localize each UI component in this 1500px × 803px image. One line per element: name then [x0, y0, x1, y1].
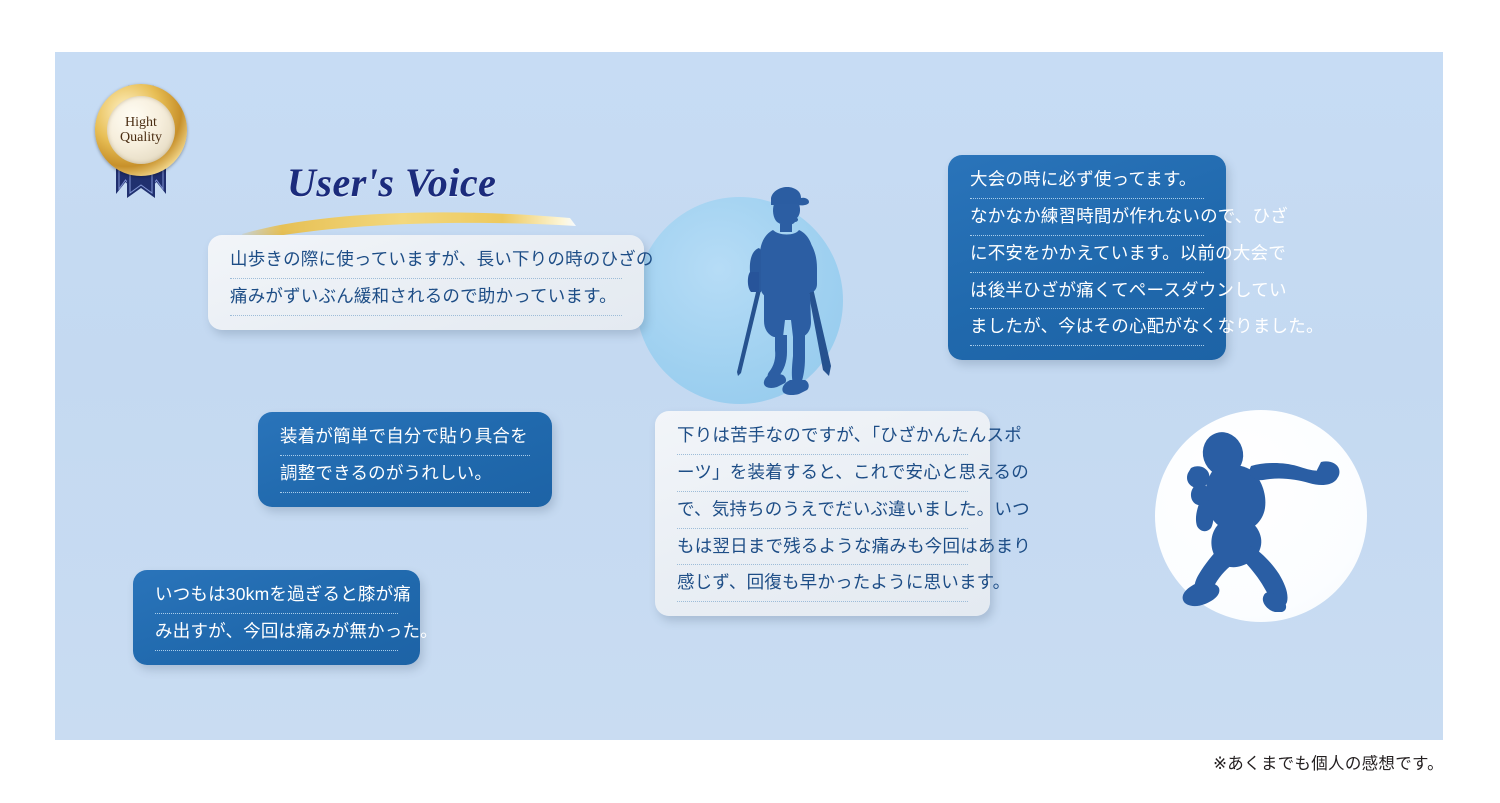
testimonial-bubble-race: 大会の時に必ず使ってます。 なかなか練習時間が作れないので、ひざ に不安をかかえ… — [948, 155, 1226, 360]
testimonial-line: 装着が簡単で自分で貼り具合を — [280, 428, 530, 456]
testimonial-line: に不安をかかえています。以前の大会で — [970, 245, 1204, 273]
testimonial-line: 調整できるのがうれしい。 — [280, 465, 530, 493]
testimonial-line: 下りは苦手なのですが、「ひざかんたんスポ — [677, 427, 968, 455]
medal-label-line2: Quality — [120, 130, 162, 145]
testimonial-line: もは翌日まで残るような痛みも今回はあまり — [677, 538, 968, 566]
testimonial-line: で、気持ちのうえでだいぶ違いました。いつ — [677, 501, 968, 529]
testimonial-bubble-downhill: 下りは苦手なのですが、「ひざかんたんスポ ーツ」を装着すると、これで安心と思える… — [655, 411, 990, 616]
hiker-silhouette-icon — [727, 180, 857, 400]
testimonial-line: 感じず、回復も早かったように思います。 — [677, 574, 968, 602]
runner-silhouette-icon — [1165, 422, 1360, 612]
testimonial-line: 痛みがずいぶん緩和されるので助かっています。 — [230, 288, 622, 316]
testimonial-bubble-hiking: 山歩きの際に使っていますが、長い下りの時のひざの 痛みがずいぶん緩和されるので助… — [208, 235, 644, 330]
testimonial-bubble-marathon: いつもは30kmを過ぎると膝が痛 み出すが、今回は痛みが無かった。 — [133, 570, 420, 665]
medal-label-line1: Hight — [125, 115, 157, 130]
testimonial-line: み出すが、今回は痛みが無かった。 — [155, 623, 398, 651]
testimonial-bubble-fit: 装着が簡単で自分で貼り具合を 調整できるのがうれしい。 — [258, 412, 552, 507]
testimonial-line: ーツ」を装着すると、これで安心と思えるの — [677, 464, 968, 492]
testimonial-line: なかなか練習時間が作れないので、ひざ — [970, 208, 1204, 236]
page-title: User's Voice — [287, 159, 496, 206]
testimonial-line: 大会の時に必ず使ってます。 — [970, 171, 1204, 199]
testimonial-line: ましたが、今はその心配がなくなりました。 — [970, 318, 1204, 346]
disclaimer-note: ※あくまでも個人の感想です。 — [1213, 750, 1444, 774]
medal-label: Hight Quality — [107, 96, 175, 164]
testimonial-line: いつもは30kmを過ぎると膝が痛 — [155, 586, 398, 614]
testimonials-panel: Hight Quality User's Voice — [55, 52, 1443, 740]
user-voice-page: Hight Quality User's Voice — [0, 0, 1500, 803]
testimonial-line: は後半ひざが痛くてペースダウンしてい — [970, 282, 1204, 310]
testimonial-line: 山歩きの際に使っていますが、長い下りの時のひざの — [230, 251, 622, 279]
quality-medal-icon: Hight Quality — [89, 84, 193, 210]
